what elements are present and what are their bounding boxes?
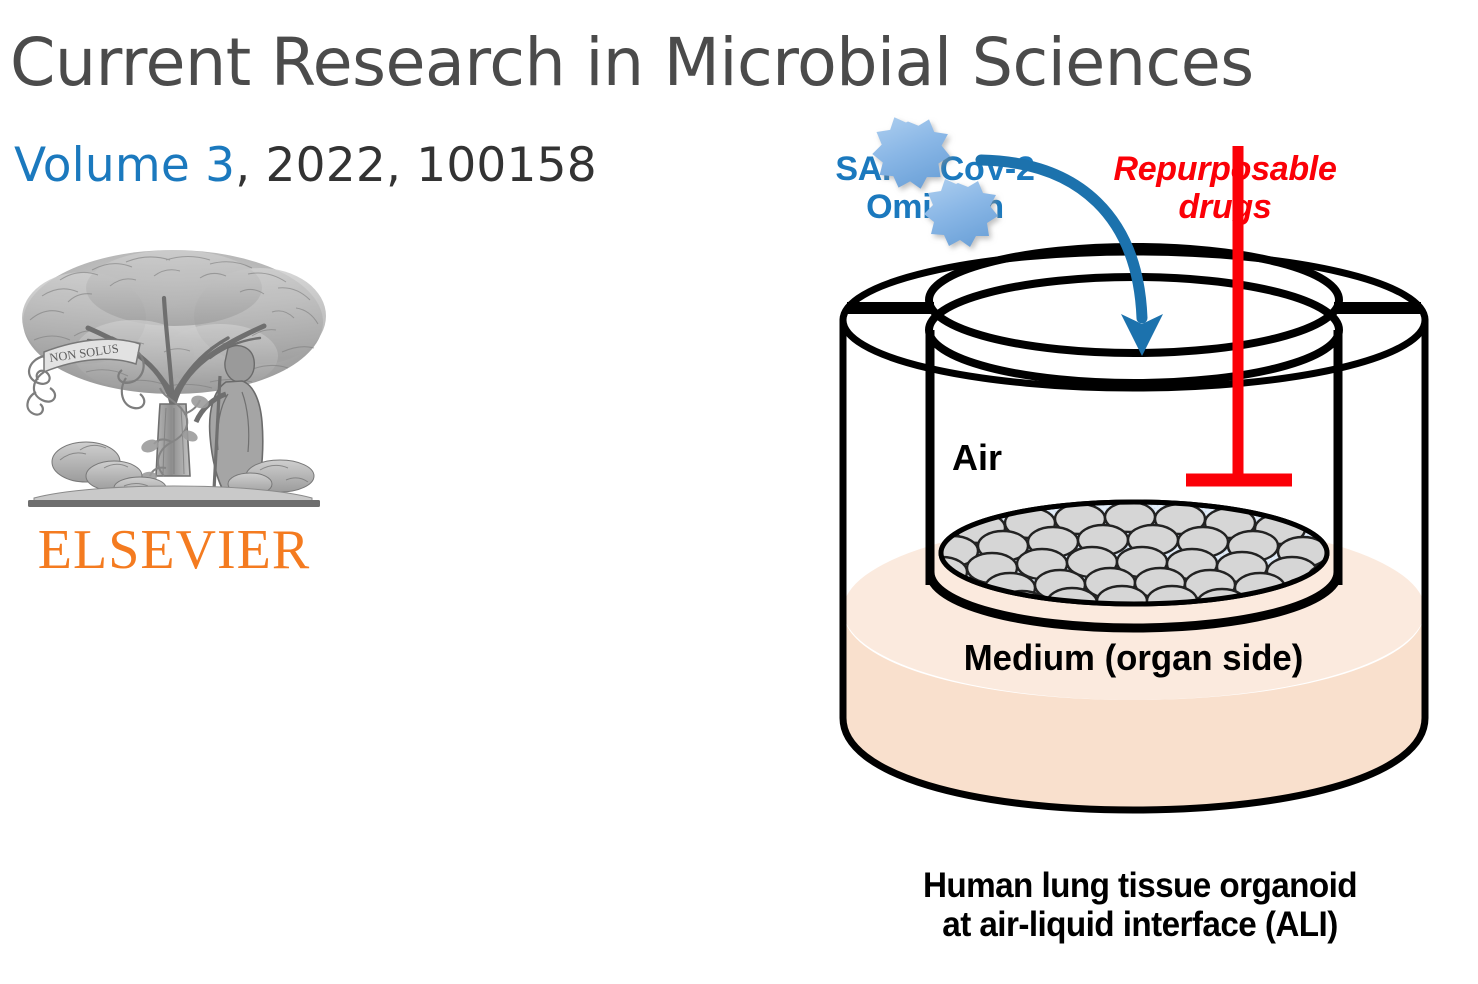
air-label: Air [952, 437, 1002, 478]
elsevier-tree-icon: NON SOLUS [14, 236, 332, 524]
ali-organoid-diagram: SARS-CoV-2 Omicron Repurposable drugs [790, 0, 1478, 984]
elsevier-logo: NON SOLUS [14, 236, 332, 590]
elsevier-wordmark: ELSEVIER [18, 522, 330, 578]
medium-label: Medium (organ side) [964, 638, 1304, 678]
virus-particle-group [872, 117, 998, 247]
journal-volume-details: , 2022, 100158 [235, 138, 597, 193]
virus-particle-2 [924, 179, 998, 247]
ali-schematic-svg: Air Medium (organ side) [790, 0, 1478, 984]
journal-branding-panel: Current Research in Microbial Sciences V… [0, 0, 790, 620]
virus-particle-1 [872, 117, 950, 188]
diagram-caption: Human lung tissue organoid at air-liquid… [836, 866, 1444, 944]
transwell-insert [847, 247, 1421, 628]
journal-volume-number: Volume 3 [14, 138, 235, 193]
journal-volume-line: Volume 3, 2022, 100158 [14, 138, 597, 193]
